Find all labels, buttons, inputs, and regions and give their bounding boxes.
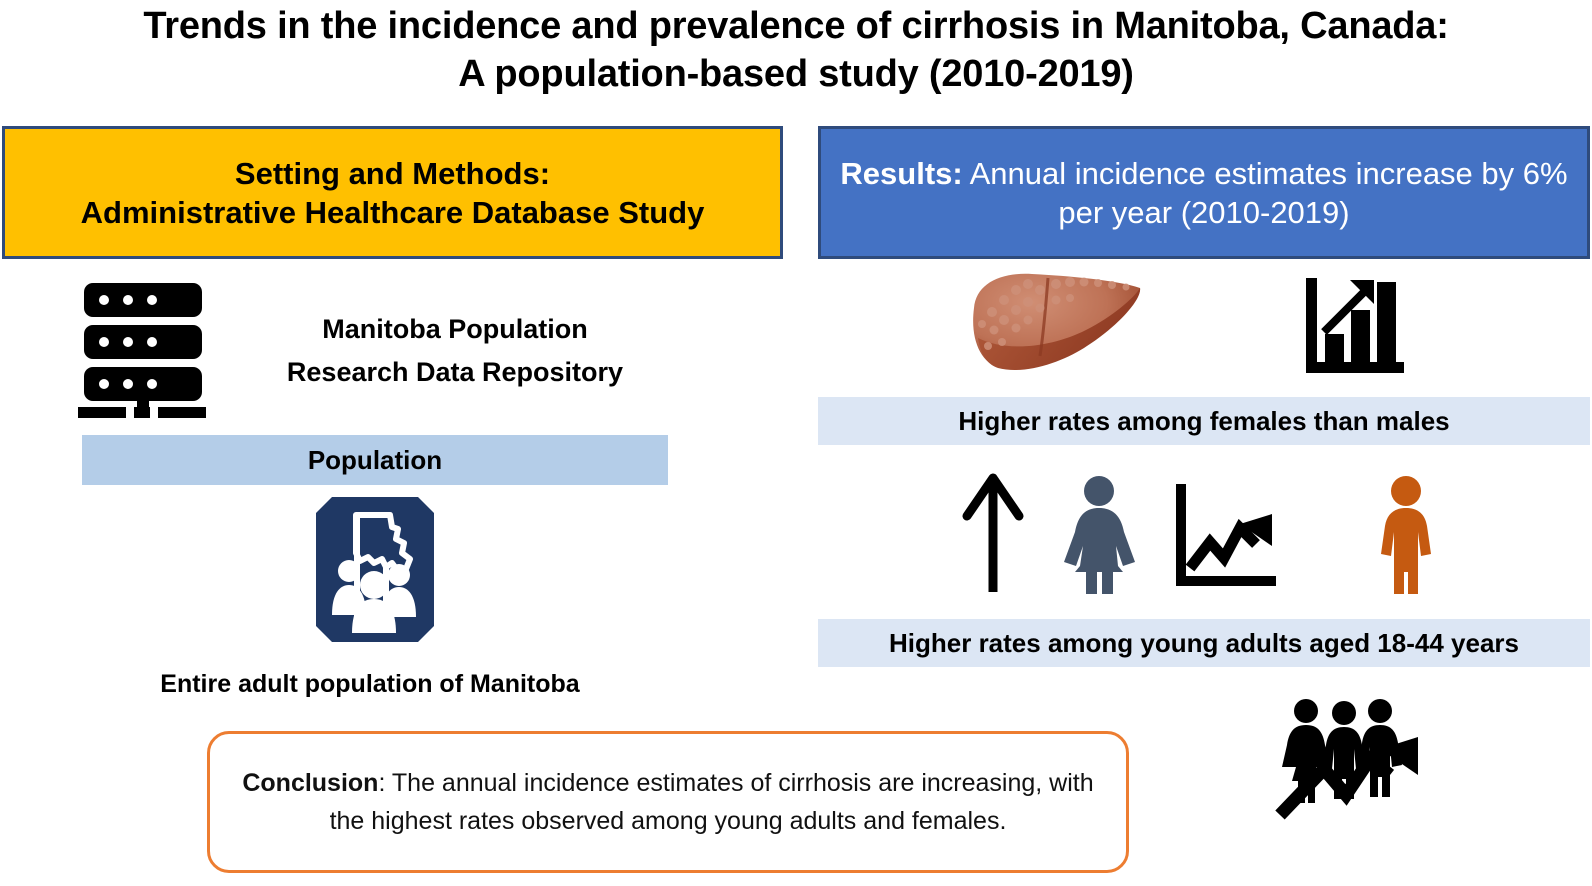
results-banner: Results: Annual incidence estimates incr… bbox=[818, 126, 1590, 259]
finding-age-label: Higher rates among young adults aged 18-… bbox=[889, 628, 1519, 659]
bar-chart-growth-icon bbox=[1306, 278, 1404, 373]
database-server-icon bbox=[78, 281, 218, 416]
line-chart-trend-icon bbox=[1176, 484, 1276, 586]
population-banner: Population bbox=[82, 435, 668, 485]
conclusion-text: : The annual incidence estimates of cirr… bbox=[330, 769, 1094, 835]
people-growth-trend-icon bbox=[1272, 697, 1424, 819]
title-line-1: Trends in the incidence and prevalence o… bbox=[143, 5, 1448, 47]
conclusion-box: Conclusion: The annual incidence estimat… bbox=[207, 731, 1129, 873]
population-banner-label: Population bbox=[308, 445, 442, 476]
repository-line-1: Manitoba Population bbox=[240, 308, 670, 351]
up-arrow-icon bbox=[962, 472, 1024, 594]
finding-age-banner: Higher rates among young adults aged 18-… bbox=[818, 619, 1590, 667]
methods-heading-line-2: Administrative Healthcare Database Study bbox=[81, 193, 705, 232]
repository-label: Manitoba Population Research Data Reposi… bbox=[240, 308, 670, 394]
methods-banner: Setting and Methods: Administrative Heal… bbox=[2, 126, 783, 259]
title-line-2: A population-based study (2010-2019) bbox=[0, 50, 1592, 98]
female-figure-icon bbox=[1058, 476, 1140, 594]
male-figure-icon bbox=[1371, 476, 1441, 594]
methods-heading-line-1: Setting and Methods: bbox=[81, 154, 705, 193]
page-title: Trends in the incidence and prevalence o… bbox=[0, 2, 1592, 98]
finding-sex-banner: Higher rates among females than males bbox=[818, 397, 1590, 445]
repository-line-2: Research Data Repository bbox=[240, 351, 670, 394]
conclusion-label: Conclusion bbox=[242, 769, 378, 797]
cirrhotic-liver-icon bbox=[966, 268, 1146, 384]
results-heading-label: Results: bbox=[840, 156, 962, 191]
finding-sex-label: Higher rates among females than males bbox=[958, 406, 1449, 437]
results-heading-text: Annual incidence estimates increase by 6… bbox=[963, 156, 1568, 230]
manitoba-population-badge-icon bbox=[316, 497, 434, 642]
entire-population-caption: Entire adult population of Manitoba bbox=[60, 670, 680, 699]
